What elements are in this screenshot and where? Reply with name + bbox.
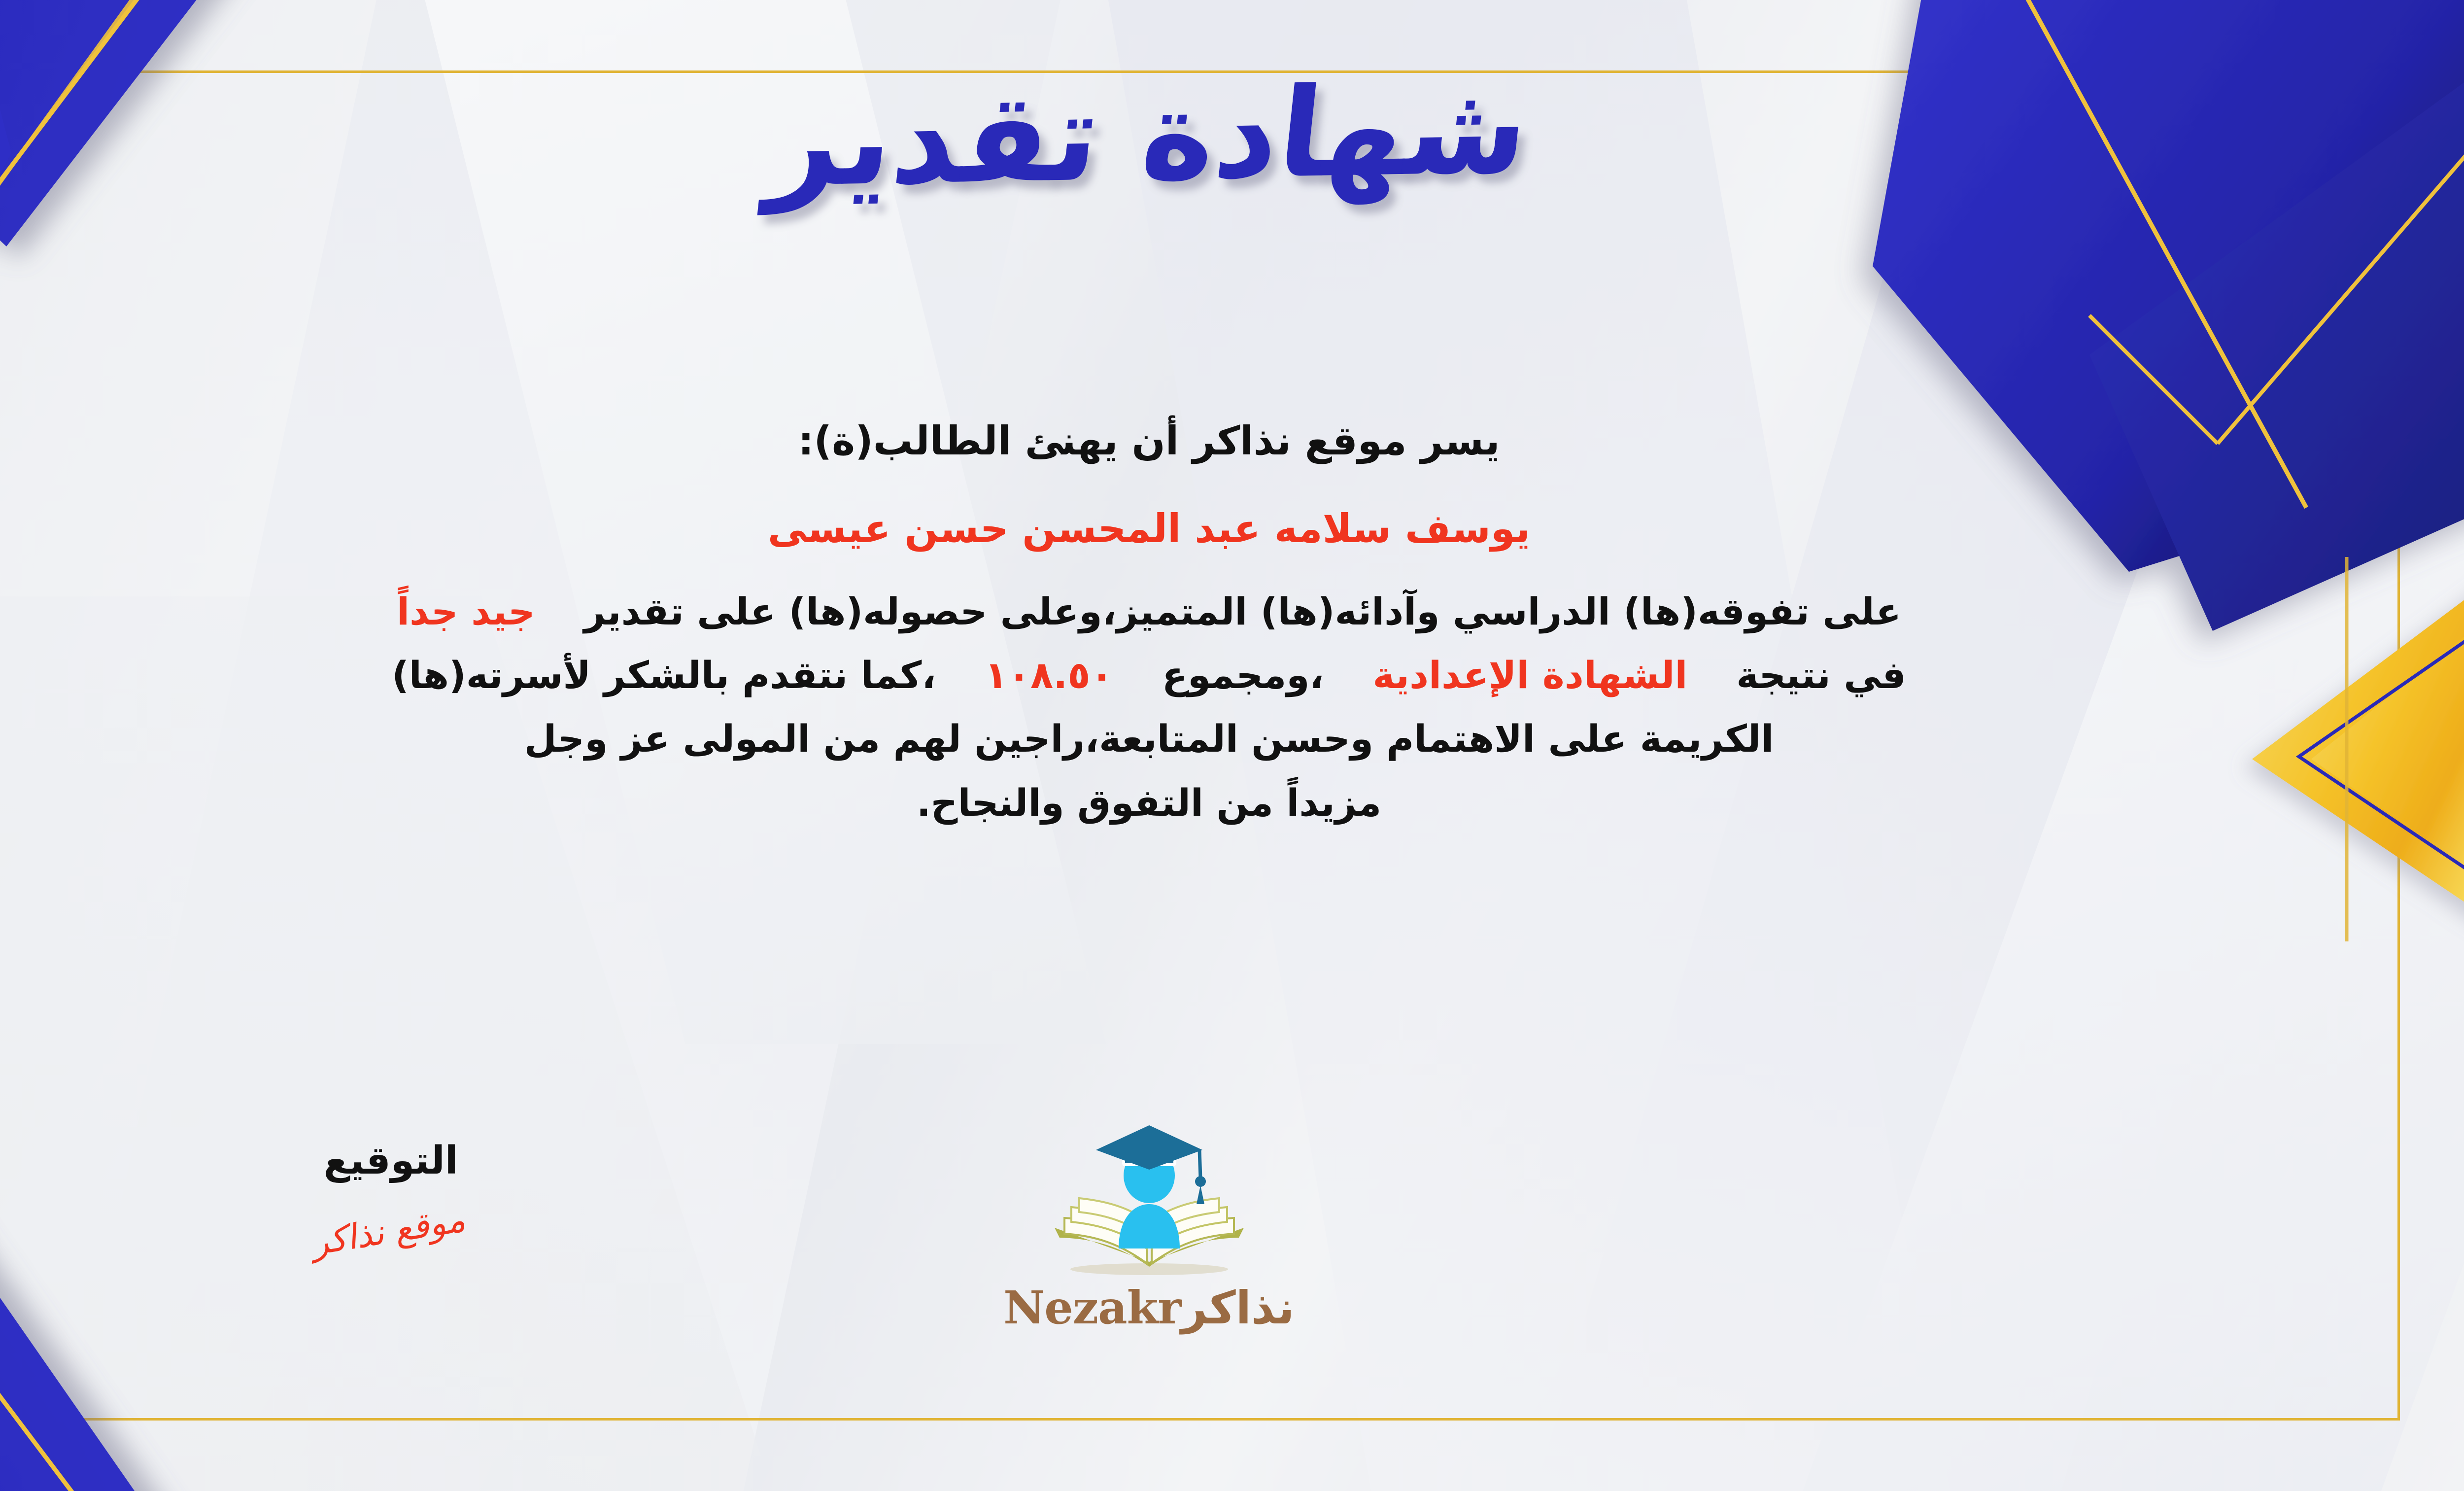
signature-mark: موقع نذاكر — [313, 1198, 469, 1264]
thanks-text: ،كما نتقدم بالشكر لأسرته(ها) — [392, 653, 936, 697]
graduate-on-book-icon — [1046, 1121, 1253, 1284]
total-label: ،ومجموع — [1162, 653, 1324, 697]
greeting-line: يسر موقع نذاكر أن يهنئ الطالب(ة): — [0, 409, 2351, 473]
grade-value: جيد جداً — [397, 589, 535, 633]
exam-name: الشهادة الإعدادية — [1372, 653, 1687, 697]
logo-wordmark-latin: Nezakr — [1003, 1281, 1181, 1334]
result-line: في نتيجة الشهادة الإعدادية ،ومجموع ١٠٨.٥… — [0, 645, 2351, 705]
certificate-title-wrap: شهادة تقدير — [0, 59, 2464, 213]
wish-line: مزيداً من التفوق والنجاح. — [0, 772, 2351, 833]
family-line: الكريمة على الاهتمام وحسن المتابعة،راجين… — [0, 708, 2351, 769]
result-label-prefix: في نتيجة — [1736, 653, 1906, 697]
student-name: يوسف سلامه عبد المحسن حسن عيسى — [0, 497, 2351, 561]
logo-wordmark: Nezakrنذاكر — [962, 1281, 1336, 1334]
total-value: ١٠٨.٥٠ — [985, 653, 1113, 697]
grade-line: على تفوقه(ها) الدراسي وآدائه(ها) المتميز… — [0, 581, 2351, 642]
certificate-page: شهادة تقدير يسر موقع نذاكر أن يهنئ الطال… — [0, 0, 2464, 1491]
page-title: شهادة تقدير — [762, 53, 1536, 220]
signature-label: التوقيع — [208, 1139, 573, 1183]
signature-area: التوقيع موقع نذاكر — [208, 1139, 573, 1251]
site-logo: Nezakrنذاكر — [962, 1121, 1336, 1334]
logo-wordmark-arabic: نذاكر — [1181, 1282, 1295, 1334]
grade-line-prefix: على تفوقه(ها) الدراسي وآدائه(ها) المتميز… — [584, 589, 1901, 633]
certificate-body: يسر موقع نذاكر أن يهنئ الطالب(ة): يوسف س… — [0, 409, 2351, 833]
